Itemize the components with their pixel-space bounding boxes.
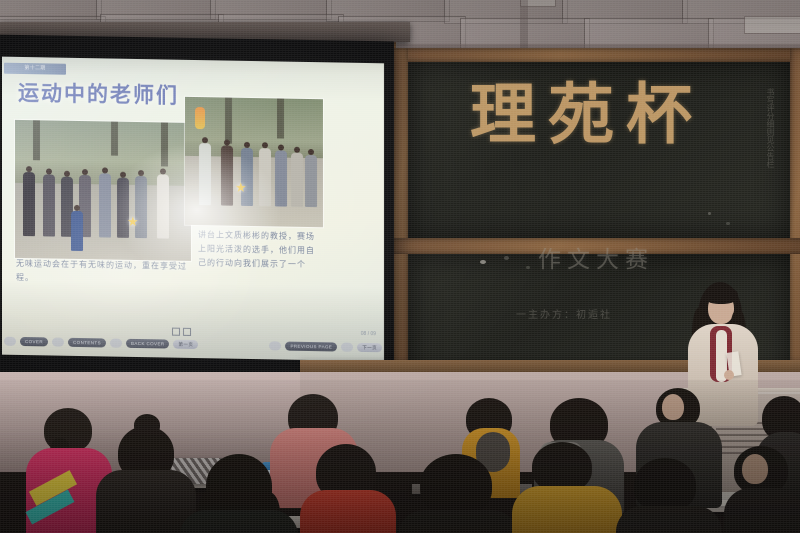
slide-issue-badge: 第十二期 <box>4 63 66 75</box>
first-page-button[interactable]: 第一页 <box>173 340 198 349</box>
audience-student <box>724 446 800 533</box>
audience-student <box>300 444 396 533</box>
slide-title: 运动中的老师们 <box>18 77 179 110</box>
blackboard-sub-text: 作文大赛 <box>538 240 654 274</box>
nav-chip[interactable] <box>341 343 353 352</box>
nav-chip[interactable] <box>52 338 64 347</box>
nav-chip[interactable] <box>110 339 122 348</box>
projection-screen[interactable]: 第十二期 运动中的老师们 <box>0 35 394 382</box>
bookmark-icon[interactable] <box>172 328 180 336</box>
teachers-tug-of-war-photo <box>14 119 192 262</box>
slide-page[interactable]: 第十二期 运动中的老师们 <box>2 57 384 362</box>
slide-navigation-bar[interactable]: COVER CONTENTS BACK COVER 第一页 PREVIOUS P… <box>2 336 384 354</box>
slide-caption-left: 无味运动会在于有无味的运动，重在享受过程。 <box>16 257 188 288</box>
slide-caption-right: 讲台上文质彬彬的教授，赛场上阳光活泼的选手，他们用自己的行动向我们展示了一个 <box>198 228 322 272</box>
audience-student <box>180 454 298 533</box>
teachers-lineup-photo <box>184 96 324 228</box>
blackboard-side-note: 书写评分细则见公告栏 <box>760 88 776 168</box>
contents-button[interactable]: CONTENTS <box>68 338 106 348</box>
blackboard-main-text: 理苑杯 <box>470 80 704 150</box>
note-icon[interactable] <box>183 328 191 336</box>
audience-student <box>398 454 518 533</box>
audience-student <box>512 442 622 533</box>
blackboard-line-text: 一主办方：初逅社 <box>516 306 612 321</box>
classroom-scene: 理苑杯 书写评分细则见公告栏 作文大赛 一主办方：初逅社 第十二期 <box>0 0 800 533</box>
cover-button[interactable]: COVER <box>20 337 48 346</box>
slide-page-tools[interactable] <box>172 328 191 336</box>
audience-student <box>616 458 722 533</box>
previous-page-button[interactable]: PREVIOUS PAGE <box>285 342 337 352</box>
ceiling-light <box>744 16 800 34</box>
blackboard-upper-panel: 理苑杯 书写评分细则见公告栏 <box>408 62 790 238</box>
nav-chip[interactable] <box>4 337 16 346</box>
back-cover-button[interactable]: BACK COVER <box>126 339 170 349</box>
slide-page-number: 08 / 09 <box>361 331 376 337</box>
nav-chip[interactable] <box>269 341 281 350</box>
next-page-button[interactable]: 下一页 <box>357 343 382 352</box>
